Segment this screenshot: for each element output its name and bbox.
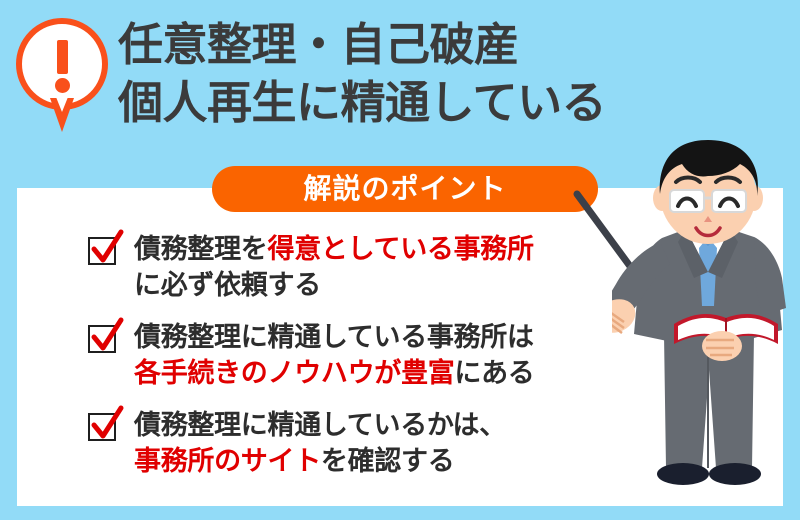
text-plain: を確認する — [321, 446, 455, 477]
list-item: 債務整理に精通しているかは、 事務所のサイトを確認する — [88, 408, 618, 480]
points-banner: 解説のポイント — [212, 166, 598, 212]
text-plain: 債務整理を — [134, 234, 268, 265]
exclamation-bar — [57, 40, 68, 74]
list-item: 債務整理に精通している事務所は 各手続きのノウハウが豊富にある — [88, 320, 618, 392]
text-highlight: 各手続きのノウハウが豊富 — [134, 358, 454, 389]
exclamation-bubble-icon — [16, 18, 108, 110]
list-item-text: 債務整理に精通している事務所は 各手続きのノウハウが豊富にある — [134, 320, 618, 392]
header: 任意整理・自己破産 個人再生に精通している — [0, 0, 800, 160]
list-item-line-2: 事務所のサイトを確認する — [134, 444, 618, 480]
list-item-line-1: 債務整理を得意としている事務所 — [134, 232, 618, 268]
page-title-line-2: 個人再生に精通している — [118, 74, 788, 132]
checkbox-checked-icon — [88, 325, 116, 353]
list-item-line-1: 債務整理に精通しているかは、 — [134, 408, 618, 444]
text-highlight: 事務所のサイト — [134, 446, 321, 477]
checkbox-checked-icon — [88, 413, 116, 441]
text-plain: 債務整理に精通している事務所は — [134, 322, 534, 353]
text-plain: に必ず依頼する — [134, 270, 321, 301]
checkmark-glyph — [90, 318, 124, 356]
list-item-line-2: に必ず依頼する — [134, 268, 618, 304]
exclamation-dot — [55, 78, 70, 93]
page-title: 任意整理・自己破産 個人再生に精通している — [118, 16, 788, 132]
businessman-teacher-icon — [612, 138, 800, 510]
page-title-line-1: 任意整理・自己破産 — [118, 16, 788, 74]
list-item-text: 債務整理に精通しているかは、 事務所のサイトを確認する — [134, 408, 618, 480]
list-item-line-1: 債務整理に精通している事務所は — [134, 320, 618, 356]
text-plain: にある — [454, 358, 534, 389]
checkmark-glyph — [90, 406, 124, 444]
list-item-text: 債務整理を得意としている事務所 に必ず依頼する — [134, 232, 618, 304]
text-highlight: 得意としている事務所 — [268, 234, 534, 265]
infographic-canvas: 任意整理・自己破産 個人再生に精通している 解説のポイント 債務整理を得意として… — [0, 0, 800, 520]
text-plain: 債務整理に精通しているかは、 — [134, 410, 506, 441]
checklist: 債務整理を得意としている事務所 に必ず依頼する 債務整理に精通している事務所は — [88, 232, 618, 480]
checkmark-glyph — [90, 230, 124, 268]
bubble-tail-inner — [54, 92, 70, 112]
points-banner-label: 解説のポイント — [303, 166, 506, 212]
checkbox-checked-icon — [88, 237, 116, 265]
list-item: 債務整理を得意としている事務所 に必ず依頼する — [88, 232, 618, 304]
list-item-line-2: 各手続きのノウハウが豊富にある — [134, 356, 618, 392]
